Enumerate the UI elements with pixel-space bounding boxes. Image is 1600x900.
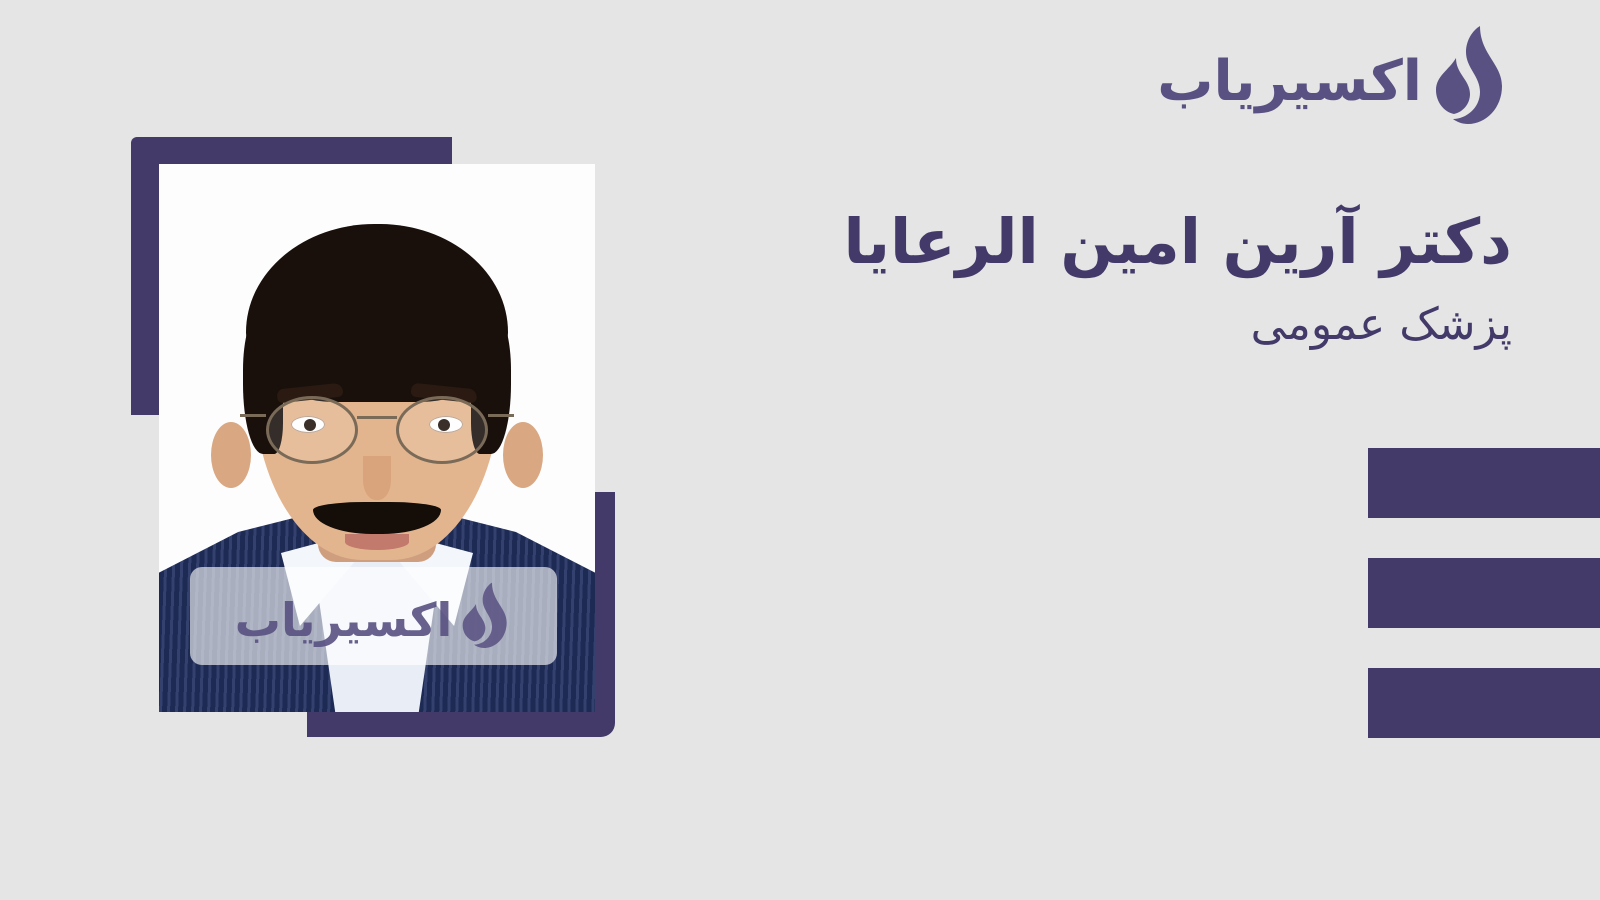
accent-bar-1 xyxy=(1368,448,1600,518)
portrait-glasses-temple-right xyxy=(488,414,514,417)
brand-wordmark: اکسیریاب xyxy=(1157,54,1422,110)
doctor-specialty: پزشک عمومی xyxy=(752,299,1512,352)
portrait-lens-left xyxy=(266,396,358,464)
brand-logo[interactable]: اکسیریاب xyxy=(1157,24,1510,128)
portrait-glasses-bridge xyxy=(357,416,397,419)
doctor-photo: اکسیریاب xyxy=(159,164,595,712)
portrait-hair xyxy=(246,224,508,402)
accent-bar-2 xyxy=(1368,558,1600,628)
portrait-glasses xyxy=(244,396,510,458)
portrait-lens-right xyxy=(396,396,488,464)
doctor-name: دکتر آرین امین الرعایا xyxy=(752,206,1512,277)
watermark-wordmark: اکسیریاب xyxy=(235,597,453,643)
portrait-composition: اکسیریاب xyxy=(0,0,700,900)
doctor-headline: دکتر آرین امین الرعایا پزشک عمومی xyxy=(752,206,1512,352)
portrait-lips xyxy=(345,534,409,550)
portrait-nose xyxy=(363,456,391,500)
photo-watermark: اکسیریاب xyxy=(190,567,557,665)
flame-droplet-logo-icon xyxy=(1432,24,1510,128)
accent-bar-3 xyxy=(1368,668,1600,738)
portrait-glasses-temple-left xyxy=(240,414,266,417)
profile-card-canvas: اکسیریاب دکتر آرین امین الرعایا پزشک عمو… xyxy=(0,0,1600,900)
watermark-flame-droplet-logo-icon xyxy=(460,580,512,652)
